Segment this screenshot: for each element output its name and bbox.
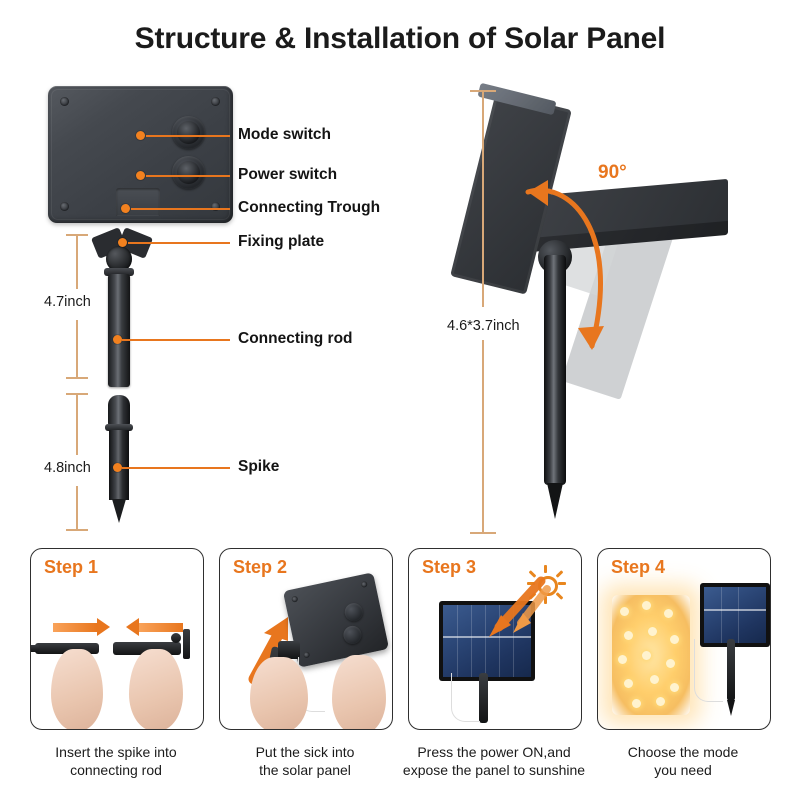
arrow-right-icon [53, 623, 97, 632]
solar-panel-back-illustration [48, 86, 233, 223]
label-spike: Spike [238, 458, 279, 476]
leader-line-connecting-rod [122, 339, 230, 341]
label-mode-switch: Mode switch [238, 126, 331, 144]
step-1-title: Step 1 [44, 557, 98, 578]
dim-tick-rod-bottom [66, 377, 88, 379]
rod-shaft [108, 274, 130, 387]
dim-line-spike-upper [76, 393, 78, 455]
hand-left [250, 657, 308, 730]
mode-switch-button-step2 [343, 601, 364, 622]
power-switch-button[interactable] [172, 156, 205, 189]
screw-icon [60, 97, 69, 106]
step-3-caption-line1: Press the power ON,and expose the panel … [403, 744, 585, 778]
dim-line-panel-lower [482, 340, 484, 532]
step-card-4[interactable]: Step 4 [597, 548, 771, 730]
dim-tick-spike-bottom [66, 529, 88, 531]
arrow-right-head-icon [97, 618, 110, 636]
screw-icon [211, 97, 220, 106]
leader-line-mode-switch [146, 135, 230, 137]
step-card-1[interactable]: Step 1 [30, 548, 204, 730]
rotation-arc-icon [500, 140, 680, 370]
mode-switch-inner [177, 121, 200, 144]
arrow-left-icon [139, 623, 183, 632]
dim-line-spike-lower [76, 486, 78, 529]
step-3-caption: Press the power ON,and expose the panel … [394, 744, 594, 780]
sunlight-arrows-icon [455, 575, 551, 655]
step-card-2[interactable]: Step 2 [219, 548, 393, 730]
wire [451, 673, 480, 722]
installation-steps: Step 1 Insert the spike into connecting … [30, 548, 770, 788]
dim-tick-panel-bottom [470, 532, 496, 534]
callout-dot-spike [113, 463, 122, 472]
label-fixing-plate: Fixing plate [238, 233, 324, 251]
solar-panel-step4 [700, 583, 770, 647]
hand-left [51, 649, 103, 730]
leader-line-connecting-trough [131, 208, 230, 210]
step-card-3[interactable]: Step 3 [408, 548, 582, 730]
connecting-rod-illustration [92, 228, 152, 388]
callout-dot-fixing-plate [118, 238, 127, 247]
step-2-caption-line1: Put the sick into the solar panel [256, 744, 355, 778]
step-4-caption-line1: Choose the mode you need [628, 744, 739, 778]
label-connecting-trough: Connecting Trough [238, 199, 380, 217]
arrow-left-head-icon [126, 618, 139, 636]
callout-dot-connecting-trough [121, 204, 130, 213]
mode-switch-button[interactable] [172, 116, 205, 149]
leader-line-fixing-plate [128, 242, 230, 244]
solar-cells [704, 587, 766, 643]
spike-head [108, 395, 130, 425]
stake-tip [727, 700, 735, 716]
step-1-caption-line1: Insert the spike into connecting rod [55, 744, 176, 778]
step-2-title: Step 2 [233, 557, 287, 578]
hand-right [332, 655, 386, 730]
callout-dot-power-switch [136, 171, 145, 180]
leader-line-power-switch [146, 175, 230, 177]
power-switch-inner [177, 161, 200, 184]
step-2-caption: Put the sick into the solar panel [205, 744, 405, 780]
hand-right [129, 649, 183, 730]
screw-icon [361, 581, 368, 588]
screw-icon [60, 202, 69, 211]
step-4-caption: Choose the mode you need [583, 744, 783, 780]
infographic-page: Structure & Installation of Solar Panel … [0, 0, 800, 800]
dimension-rod-length: 4.7inch [44, 294, 91, 310]
page-title: Structure & Installation of Solar Panel [0, 22, 800, 56]
step-4-title: Step 4 [611, 557, 665, 578]
dimension-spike-length: 4.8inch [44, 460, 91, 476]
label-connecting-rod: Connecting rod [238, 330, 353, 348]
spike-part-tip [30, 645, 39, 652]
spike-tip [112, 499, 126, 523]
wire [694, 639, 723, 702]
callout-dot-mode-switch [136, 131, 145, 140]
spike-tip-assembled [547, 483, 563, 519]
rod-part-joint [171, 633, 181, 643]
leader-line-spike [122, 467, 230, 469]
rod-part-plate [183, 629, 190, 659]
power-switch-button-step2 [342, 624, 363, 645]
callout-dot-connecting-rod [113, 335, 122, 344]
dimension-panel-size: 4.6*3.7inch [447, 318, 520, 334]
panel-stake [479, 673, 488, 723]
panel-stake [727, 639, 735, 701]
dim-line-rod-upper [76, 234, 78, 289]
assembled-lamp-illustration: 90° [440, 80, 800, 540]
spike-illustration [92, 395, 152, 523]
label-power-switch: Power switch [238, 166, 337, 184]
dim-line-rod-lower [76, 320, 78, 377]
screw-icon [291, 596, 298, 603]
step-1-caption: Insert the spike into connecting rod [16, 744, 216, 780]
rotation-angle-label: 90° [598, 162, 627, 184]
dim-line-panel-upper [482, 90, 484, 307]
